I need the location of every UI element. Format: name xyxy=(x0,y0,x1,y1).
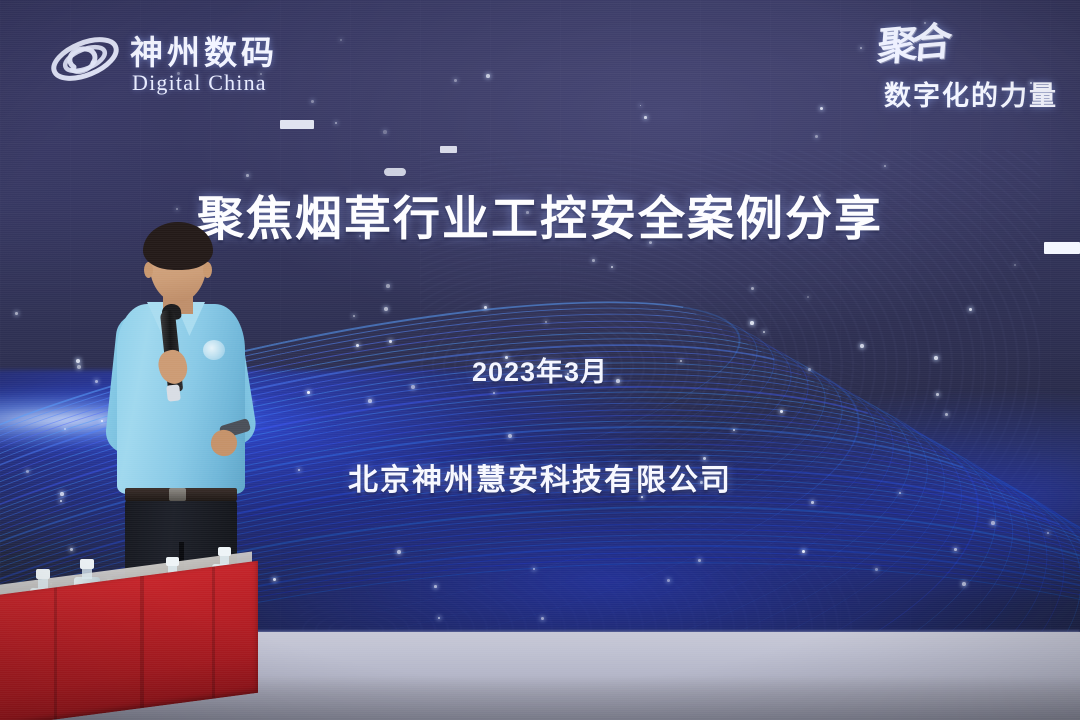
presenter-shirt-logo xyxy=(203,340,225,360)
microphone-base xyxy=(166,384,181,401)
screen-light-bar-mid xyxy=(440,146,457,153)
presenter-polo-shirt xyxy=(117,304,245,494)
event-theme-logo: 聚合 数字化的力量 xyxy=(808,16,1058,114)
presenter-ear-right xyxy=(203,262,212,278)
digital-china-english-name: Digital China xyxy=(132,70,267,96)
digital-china-swirl-icon xyxy=(48,26,122,92)
presenter-hair xyxy=(143,222,213,270)
screen-light-bar-left xyxy=(280,120,314,129)
juhe-calligraphy: 聚合 xyxy=(876,9,949,73)
presenter-belt-buckle xyxy=(169,488,186,501)
digital-china-chinese-name: 神州数码 xyxy=(130,26,278,74)
event-theme-subtitle: 数字化的力量 xyxy=(884,74,1058,113)
digital-china-logo: 神州数码 Digital China xyxy=(48,20,318,104)
screen-light-bar-right xyxy=(1044,242,1080,254)
conference-stage-photo: 聚焦烟草行业工控安全案例分享 2023年3月 北京神州慧安科技有限公司 神州数码… xyxy=(0,0,1080,720)
screen-light-bar-mid2 xyxy=(384,168,406,176)
